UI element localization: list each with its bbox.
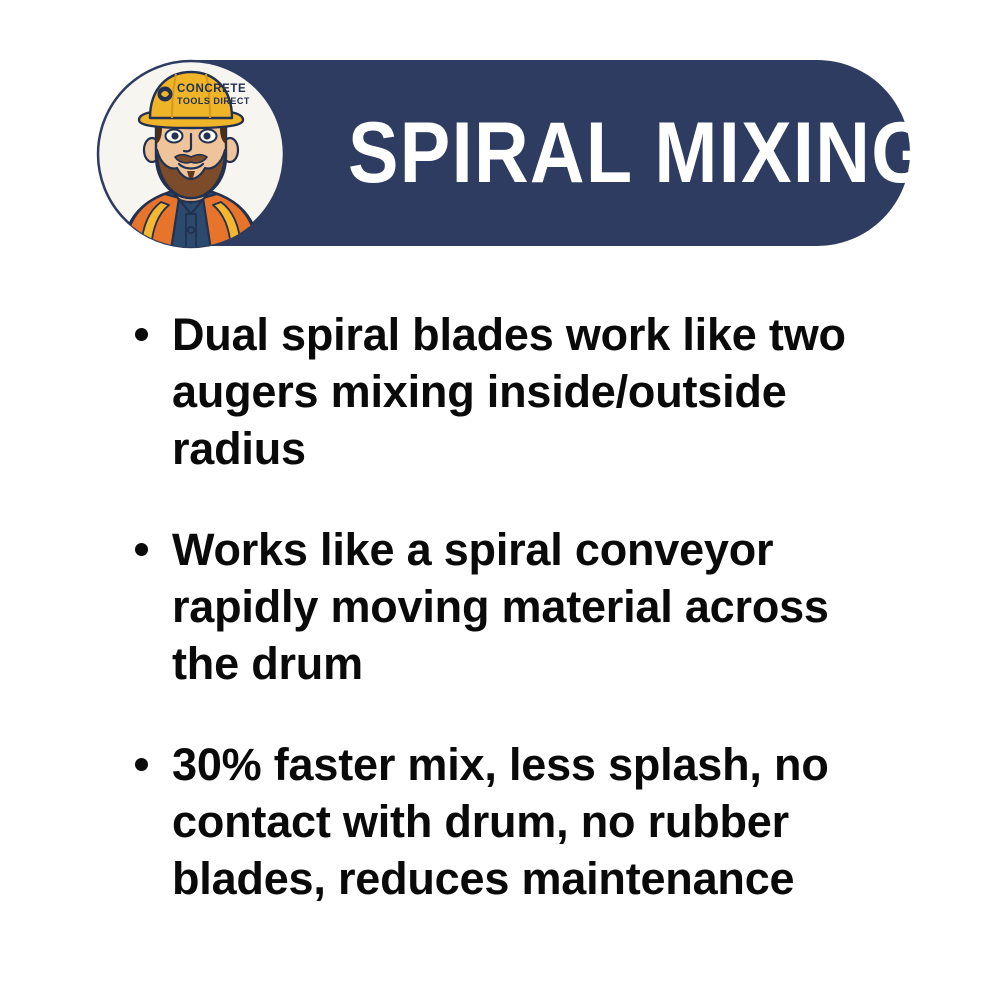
list-item-text: 30% faster mix, less splash, no contact … bbox=[172, 739, 829, 904]
hard-hat-logo-line2: TOOLS DIRECT bbox=[177, 96, 250, 106]
slide-root: SPIRAL MIXING bbox=[0, 0, 1000, 1000]
bullet-dot-icon bbox=[135, 758, 148, 771]
avatar: CONCRETE TOOLS DIRECT bbox=[95, 58, 287, 250]
page-title: SPIRAL MIXING bbox=[348, 60, 823, 246]
construction-worker-avatar-icon: CONCRETE TOOLS DIRECT bbox=[95, 58, 287, 250]
bullet-dot-icon bbox=[135, 543, 148, 556]
list-item: Works like a spiral conveyor rapidly mov… bbox=[130, 521, 875, 692]
list-item-text: Works like a spiral conveyor rapidly mov… bbox=[172, 524, 829, 689]
feature-bullet-list: Dual spiral blades work like two augers … bbox=[130, 306, 875, 907]
bullet-dot-icon bbox=[135, 328, 148, 341]
list-item: Dual spiral blades work like two augers … bbox=[130, 306, 875, 477]
hard-hat-logo-line1: CONCRETE bbox=[177, 83, 246, 95]
list-item: 30% faster mix, less splash, no contact … bbox=[130, 736, 875, 907]
list-item-text: Dual spiral blades work like two augers … bbox=[172, 309, 846, 474]
